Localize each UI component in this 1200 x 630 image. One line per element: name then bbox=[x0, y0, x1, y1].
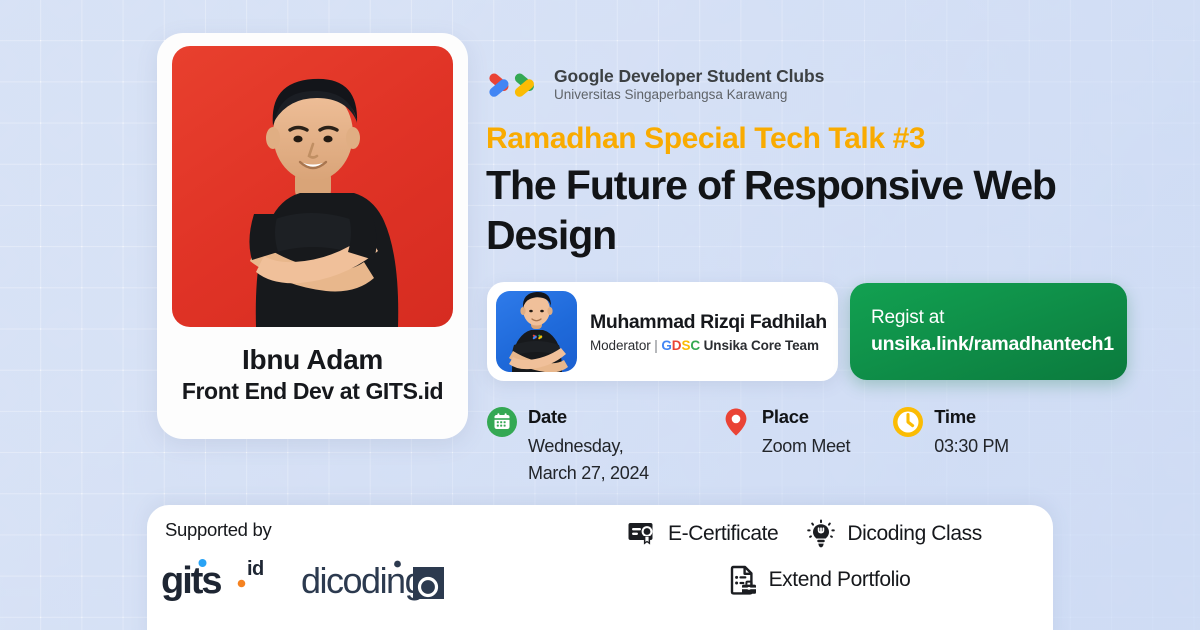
svg-text:dicoding: dicoding bbox=[301, 560, 423, 601]
svg-text:id: id bbox=[247, 558, 264, 580]
speaker-card: Ibnu Adam Front End Dev at GITS.id bbox=[157, 33, 468, 439]
meta-value-time: 03:30 PM bbox=[934, 433, 1009, 460]
event-meta-row: Date Wednesday, March 27, 2024 Place Zoo… bbox=[487, 406, 1009, 487]
lightbulb-icon bbox=[806, 519, 836, 549]
portfolio-document-icon bbox=[728, 565, 758, 595]
certificate-icon bbox=[627, 519, 657, 549]
clock-icon bbox=[893, 407, 923, 437]
meta-item-time: Time 03:30 PM bbox=[893, 406, 1009, 460]
meta-label-date: Date bbox=[528, 406, 649, 428]
register-url: unsika.link/ramadhantech1 bbox=[871, 333, 1127, 356]
speaker-role: Front End Dev at GITS.id bbox=[157, 378, 468, 405]
benefit-label-dicoding-class: Dicoding Class bbox=[847, 522, 981, 546]
moderator-role-suffix: Unsika Core Team bbox=[704, 338, 819, 353]
speaker-portrait-illustration bbox=[172, 46, 453, 327]
register-button[interactable]: Regist at unsika.link/ramadhantech1 bbox=[850, 283, 1127, 380]
benefit-extend-portfolio: Extend Portfolio bbox=[728, 565, 911, 595]
moderator-role: Moderator | GDSC Unsika Core Team bbox=[590, 338, 827, 353]
moderator-role-brand: GDSC bbox=[661, 338, 700, 353]
benefit-dicoding-class: Dicoding Class bbox=[806, 519, 981, 549]
meta-label-place: Place bbox=[762, 406, 850, 428]
moderator-card: Muhammad Rizqi Fadhilah Moderator | GDSC… bbox=[487, 282, 838, 381]
calendar-icon bbox=[487, 407, 517, 437]
meta-item-place: Place Zoom Meet bbox=[721, 406, 850, 460]
dicoding-logo-icon: dicoding bbox=[301, 553, 446, 605]
benefits-list: E-Certificate bbox=[627, 519, 1047, 595]
gits-id-logo-icon: gits id bbox=[161, 553, 279, 605]
gdsc-chevron-logo-icon bbox=[486, 67, 542, 103]
gdsc-org-name: Google Developer Student Clubs bbox=[554, 66, 824, 86]
meta-item-date: Date Wednesday, March 27, 2024 bbox=[487, 406, 649, 487]
meta-label-time: Time bbox=[934, 406, 1009, 428]
benefit-e-certificate: E-Certificate bbox=[627, 519, 778, 549]
meta-value-date: Wednesday, March 27, 2024 bbox=[528, 433, 649, 487]
speaker-photo bbox=[172, 46, 453, 327]
benefit-label-extend-portfolio: Extend Portfolio bbox=[769, 568, 911, 592]
moderator-role-separator: | bbox=[654, 338, 657, 353]
sponsor-logo-row: gits id dicoding bbox=[161, 553, 446, 605]
benefit-label-e-certificate: E-Certificate bbox=[668, 522, 778, 546]
gdsc-chapter-name: Universitas Singaperbangsa Karawang bbox=[554, 87, 824, 103]
event-kicker: Ramadhan Special Tech Talk #3 bbox=[486, 122, 925, 156]
moderator-portrait-illustration bbox=[496, 291, 577, 372]
moderator-role-prefix: Moderator bbox=[590, 338, 651, 353]
event-poster: Ibnu Adam Front End Dev at GITS.id Googl… bbox=[0, 0, 1200, 630]
moderator-name: Muhammad Rizqi Fadhilah bbox=[590, 311, 827, 334]
register-label: Regist at bbox=[871, 307, 1127, 329]
footer-card: Supported by gits id dicoding bbox=[147, 505, 1053, 630]
event-title: The Future of Responsive Web Design bbox=[486, 160, 1086, 260]
moderator-avatar bbox=[496, 291, 577, 372]
meta-value-place: Zoom Meet bbox=[762, 433, 850, 460]
gdsc-brand-header: Google Developer Student Clubs Universit… bbox=[486, 66, 824, 103]
location-pin-icon bbox=[721, 407, 751, 437]
supported-by-label: Supported by bbox=[165, 519, 271, 541]
svg-text:gits: gits bbox=[161, 560, 221, 602]
speaker-name: Ibnu Adam bbox=[157, 344, 468, 376]
